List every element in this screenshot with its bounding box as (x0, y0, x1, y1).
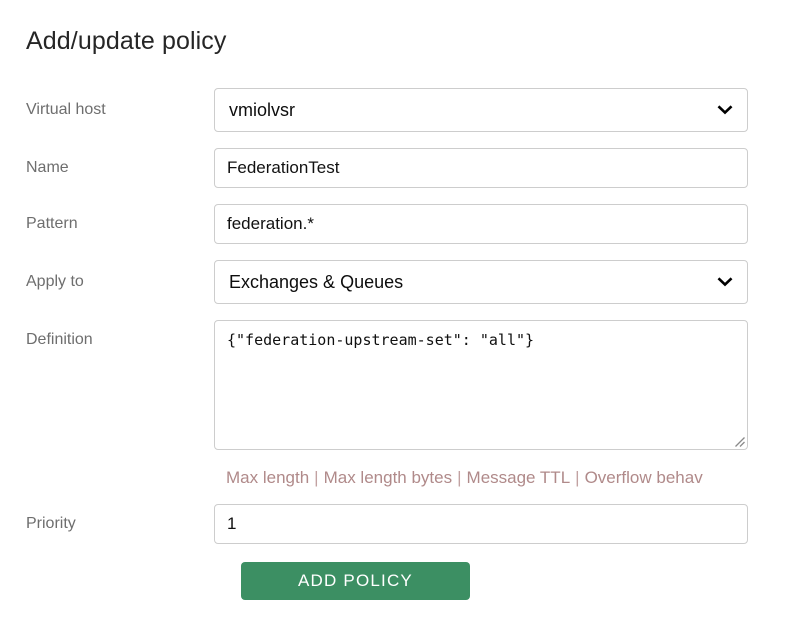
name-input[interactable] (214, 148, 748, 188)
priority-label: Priority (0, 504, 214, 534)
form-row-definition: Definition {"federation-upstream-set": "… (0, 320, 800, 450)
form-row-virtual-host: Virtual host vmiolvsr (0, 88, 800, 132)
policy-form: Virtual host vmiolvsr Name (0, 88, 800, 600)
form-actions-row: ADD POLICY (0, 562, 800, 600)
hint-separator: | (452, 468, 466, 487)
name-label: Name (0, 148, 214, 178)
hint-separator: | (570, 468, 584, 487)
actions-spacer (0, 562, 214, 600)
hints-spacer (0, 466, 214, 490)
pattern-label: Pattern (0, 204, 214, 234)
name-field (214, 148, 748, 188)
page-title: Add/update policy (26, 27, 226, 56)
hint-separator: | (309, 468, 323, 487)
pattern-field (214, 204, 748, 244)
virtual-host-field: vmiolvsr (214, 88, 748, 132)
definition-textarea-wrap: {"federation-upstream-set": "all"} (214, 320, 748, 450)
virtual-host-select-wrap[interactable]: vmiolvsr (214, 88, 748, 132)
virtual-host-select[interactable]: vmiolvsr (214, 88, 748, 132)
definition-textarea[interactable]: {"federation-upstream-set": "all"} (214, 320, 748, 450)
apply-to-label: Apply to (0, 260, 214, 292)
apply-to-select[interactable]: Exchanges & Queues (214, 260, 748, 304)
priority-field (214, 504, 748, 544)
form-row-pattern: Pattern (0, 204, 800, 244)
definition-hint-links: Max length|Max length bytes|Message TTL|… (214, 466, 800, 490)
form-row-name: Name (0, 148, 800, 188)
apply-to-value: Exchanges & Queues (229, 272, 403, 293)
definition-field: {"federation-upstream-set": "all"} (214, 320, 748, 450)
form-row-priority: Priority (0, 504, 800, 544)
hint-link-message-ttl[interactable]: Message TTL (467, 468, 571, 487)
priority-input[interactable] (214, 504, 748, 544)
virtual-host-value: vmiolvsr (229, 100, 295, 121)
definition-hint-links-row: Max length|Max length bytes|Message TTL|… (0, 466, 800, 490)
hint-link-overflow-behaviour[interactable]: Overflow behav (585, 468, 703, 487)
apply-to-field: Exchanges & Queues (214, 260, 748, 304)
form-row-apply-to: Apply to Exchanges & Queues (0, 260, 800, 304)
hint-link-max-length[interactable]: Max length (226, 468, 309, 487)
hint-link-max-length-bytes[interactable]: Max length bytes (324, 468, 453, 487)
add-update-policy-page: Add/update policy Virtual host vmiolvsr (0, 0, 800, 622)
pattern-input[interactable] (214, 204, 748, 244)
add-policy-button[interactable]: ADD POLICY (241, 562, 470, 600)
virtual-host-label: Virtual host (0, 88, 214, 120)
apply-to-select-wrap[interactable]: Exchanges & Queues (214, 260, 748, 304)
definition-label: Definition (0, 320, 214, 350)
